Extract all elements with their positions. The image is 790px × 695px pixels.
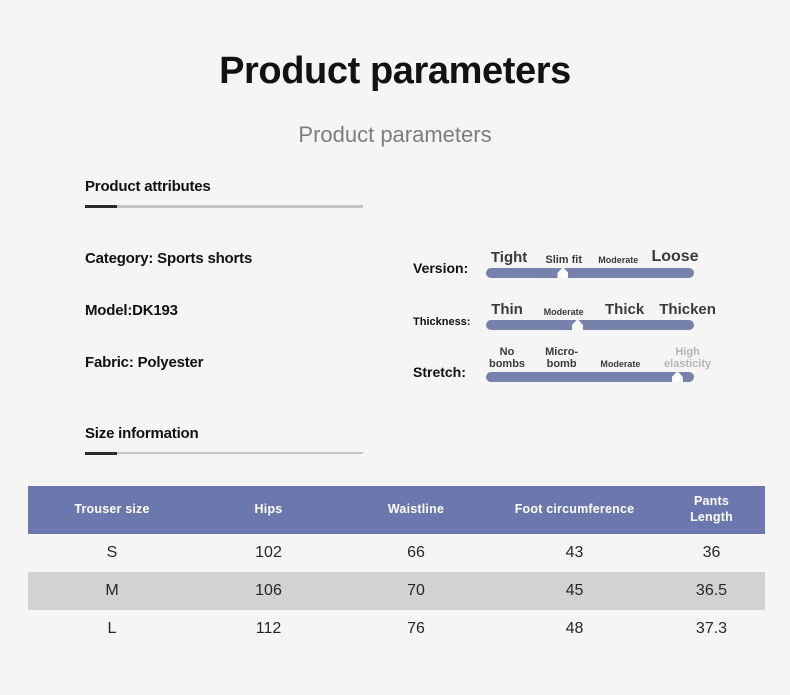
slider-label-version: Version: bbox=[413, 260, 468, 276]
page-title: Product parameters bbox=[0, 50, 790, 93]
table-cell-size: M bbox=[28, 572, 196, 610]
slider-stretch[interactable] bbox=[486, 372, 694, 382]
table-cell-size: L bbox=[28, 610, 196, 648]
slider-tick-label: Tight bbox=[491, 250, 527, 267]
slider-tick-label: High elasticity bbox=[664, 346, 711, 370]
slider-track[interactable] bbox=[486, 320, 694, 330]
slider-tick-label: Loose bbox=[651, 248, 698, 266]
slider-thickness[interactable] bbox=[486, 320, 694, 330]
slider-label-thickness: Thickness: bbox=[413, 316, 470, 328]
section-heading-attributes: Product attributes bbox=[85, 178, 365, 195]
table-cell-waistline: 76 bbox=[341, 610, 491, 648]
table-cell-hips: 106 bbox=[196, 572, 341, 610]
product-attributes-section: Product attributes bbox=[85, 178, 365, 208]
slider-ticks-thickness: Thin Moderate Thick Thicken bbox=[486, 292, 696, 318]
slider-track[interactable] bbox=[486, 372, 694, 382]
heading-underline-size bbox=[85, 452, 363, 454]
table-cell-pants-length: 37.3 bbox=[658, 610, 765, 648]
size-information-section: Size information bbox=[85, 425, 365, 454]
table-header-cell: Hips bbox=[196, 486, 341, 534]
slider-tick-label: Thicken bbox=[659, 302, 716, 319]
section-heading-size: Size information bbox=[85, 425, 365, 442]
table-header-cell: Pants Length bbox=[658, 486, 765, 534]
table-cell-foot: 48 bbox=[491, 610, 658, 648]
table-cell-hips: 112 bbox=[196, 610, 341, 648]
table-cell-foot: 45 bbox=[491, 572, 658, 610]
product-parameters-page: Product parameters Product parameters Pr… bbox=[0, 0, 790, 695]
size-table: Trouser size Hips Waistline Foot circumf… bbox=[28, 486, 765, 648]
table-cell-waistline: 70 bbox=[341, 572, 491, 610]
table-header-cell: Foot circumference bbox=[491, 486, 658, 534]
slider-tick-label: Moderate bbox=[544, 308, 584, 318]
slider-track[interactable] bbox=[486, 268, 694, 278]
table-cell-size: S bbox=[28, 534, 196, 572]
slider-tick-label: Thick bbox=[605, 302, 644, 319]
slider-version[interactable] bbox=[486, 268, 694, 278]
table-cell-foot: 43 bbox=[491, 534, 658, 572]
slider-tick-label: Moderate bbox=[598, 256, 638, 266]
table-header-row: Trouser size Hips Waistline Foot circumf… bbox=[28, 486, 765, 534]
table-body: S 102 66 43 36 M 106 70 45 36.5 L 112 76… bbox=[28, 534, 765, 648]
table-row: L 112 76 48 37.3 bbox=[28, 610, 765, 648]
slider-tick-label: Slim fit bbox=[545, 254, 582, 266]
slider-tick-label: No bombs bbox=[489, 346, 525, 370]
table-header-cell: Trouser size bbox=[28, 486, 196, 534]
table-cell-pants-length: 36 bbox=[658, 534, 765, 572]
attribute-model: Model:DK193 bbox=[85, 302, 252, 319]
slider-ticks-stretch: No bombs Micro- bomb Moderate High elast… bbox=[486, 344, 696, 370]
table-cell-pants-length: 36.5 bbox=[658, 572, 765, 610]
slider-label-stretch: Stretch: bbox=[413, 364, 466, 380]
slider-tick-label: Moderate bbox=[600, 360, 640, 370]
attribute-category: Category: Sports shorts bbox=[85, 250, 252, 267]
attribute-list: Category: Sports shorts Model:DK193 Fabr… bbox=[85, 250, 252, 406]
table-row: S 102 66 43 36 bbox=[28, 534, 765, 572]
slider-row-thickness: Thickness: Thin Moderate Thick Thicken bbox=[413, 288, 733, 340]
slider-tick-label: Micro- bomb bbox=[545, 346, 578, 370]
table-row: M 106 70 45 36.5 bbox=[28, 572, 765, 610]
page-subtitle: Product parameters bbox=[0, 122, 790, 148]
slider-row-stretch: Stretch: No bombs Micro- bomb Moderate H… bbox=[413, 340, 733, 392]
table-cell-waistline: 66 bbox=[341, 534, 491, 572]
table-header-cell: Waistline bbox=[341, 486, 491, 534]
heading-underline-attributes bbox=[85, 205, 363, 208]
slider-tick-label: Thin bbox=[491, 302, 523, 319]
table-cell-hips: 102 bbox=[196, 534, 341, 572]
slider-ticks-version: Tight Slim fit Moderate Loose bbox=[486, 240, 696, 266]
parameter-sliders: Version: Tight Slim fit Moderate Loose T… bbox=[413, 236, 733, 392]
slider-row-version: Version: Tight Slim fit Moderate Loose bbox=[413, 236, 733, 288]
attribute-fabric: Fabric: Polyester bbox=[85, 354, 252, 371]
